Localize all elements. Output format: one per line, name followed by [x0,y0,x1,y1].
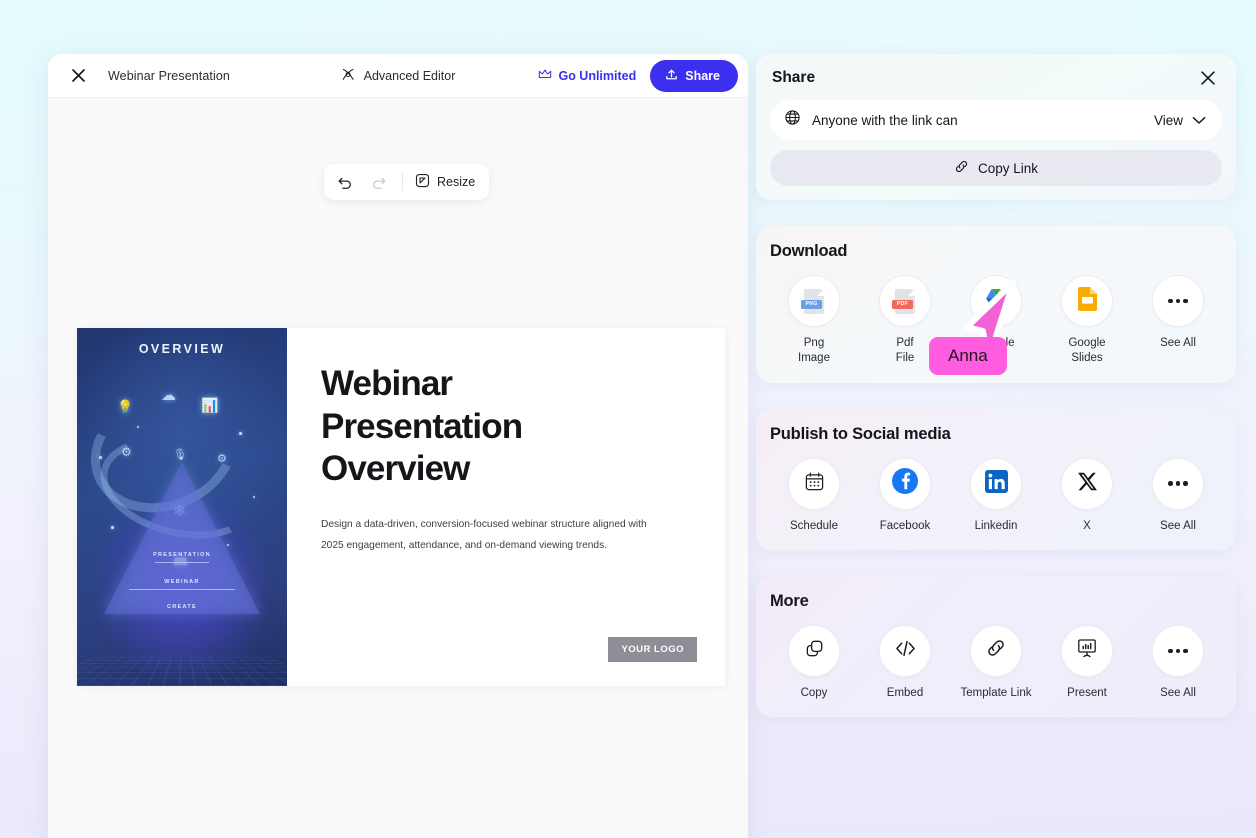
slide-art-title: OVERVIEW [77,342,287,356]
advanced-editor-button[interactable]: Advanced Editor [341,67,456,85]
png-file-icon: PNG [804,289,824,314]
tile-circle [788,458,840,510]
tile-circle [1061,458,1113,510]
tile-label: Google Slides [1068,336,1105,367]
ellipsis-icon [1168,649,1188,654]
link-access-row[interactable]: Anyone with the link can View [770,100,1222,140]
pyramid-tier-label-3: CREATE [77,604,287,610]
tile-label: Png Image [798,336,830,367]
share-header-row: Share [770,66,1222,100]
calendar-icon [804,471,825,497]
go-unlimited-button[interactable]: Go Unlimited [538,68,636,83]
tile-label: Linkedin [975,519,1018,534]
gear-icon-left: ⚙ [121,446,132,458]
canvas-toolbar: Resize [324,164,489,200]
share-button[interactable]: Share [650,60,738,92]
tile-label: See All [1160,686,1196,701]
download-section: Download PNG Png Image PDF Pdf File [756,226,1236,383]
more-section: More Copy [756,576,1236,717]
tile-linkedin[interactable]: Linkedin [958,458,1034,534]
upload-icon [665,68,678,84]
presentation-board-icon [1076,637,1098,664]
tile-circle [970,275,1022,327]
tile-circle [970,458,1022,510]
cloud-upload-icon: ☁ [161,388,176,403]
resize-button[interactable]: Resize [409,165,485,199]
pdf-file-icon: PDF [895,289,915,314]
tile-circle [1061,275,1113,327]
permission-selector[interactable]: View [1154,113,1206,128]
social-tiles: Schedule Facebook [770,458,1222,534]
tile-label: Google [977,336,1014,351]
tile-facebook[interactable]: Facebook [867,458,943,534]
more-section-title: More [770,592,1222,611]
slide-card[interactable]: OVERVIEW 💡 ☁ 📊 ⚙ ⚙ 🎙 🕸 📖 [77,328,725,686]
art-sparkle [239,432,242,435]
pyramid-tier-label-1: PRESENTATION [77,552,287,558]
download-section-title: Download [770,242,1222,261]
tile-present[interactable]: Present [1049,625,1125,701]
editor-canvas: Resize OVERVIEW 💡 ☁ 📊 ⚙ ⚙ 🎙 🕸 📖 [48,98,748,838]
pyramid-tier-label-2: WEBINAR [77,579,287,585]
tile-label: Present [1067,686,1107,701]
editor-top-bar: Webinar Presentation Advanced Editor Go … [48,54,748,98]
download-tiles: PNG Png Image PDF Pdf File [770,275,1222,367]
close-icon[interactable] [66,64,90,88]
close-icon[interactable] [1196,66,1220,90]
logo-placeholder-badge[interactable]: YOUR LOGO [608,637,697,662]
tile-label: See All [1160,519,1196,534]
tile-social-see-all[interactable]: See All [1140,458,1216,534]
tile-circle [788,625,840,677]
lightbulb-icon: 💡 [117,400,133,413]
copy-link-button[interactable]: Copy Link [770,150,1222,186]
magic-wand-icon [341,67,356,85]
facebook-icon [891,467,919,500]
more-tiles: Copy Embed [770,625,1222,701]
top-bar-actions: Go Unlimited Share [538,60,738,92]
art-grid-floor [77,654,287,686]
tile-download-see-all[interactable]: See All [1140,275,1216,367]
ellipsis-icon [1168,299,1188,304]
permission-value: View [1154,113,1183,128]
tile-google-drive[interactable]: Google [958,275,1034,367]
slide-artwork: OVERVIEW 💡 ☁ 📊 ⚙ ⚙ 🎙 🕸 📖 [77,328,287,686]
google-drive-icon [984,288,1008,314]
art-sparkle [99,456,102,459]
tile-circle [1152,275,1204,327]
tile-copy[interactable]: Copy [776,625,852,701]
tile-x-twitter[interactable]: X [1049,458,1125,534]
resize-icon [415,173,430,191]
slide-subtitle[interactable]: Design a data-driven, conversion-focused… [321,515,669,557]
tile-label: Facebook [880,519,931,534]
advanced-editor-label: Advanced Editor [364,69,456,83]
toolbar-divider [402,173,403,191]
crown-icon [538,68,552,83]
tile-embed[interactable]: Embed [867,625,943,701]
editor-window: Webinar Presentation Advanced Editor Go … [48,54,748,838]
link-access-label: Anyone with the link can [812,113,958,128]
slide-headline[interactable]: Webinar Presentation Overview [321,363,651,491]
undo-button[interactable] [328,165,362,199]
tile-label: Schedule [790,519,838,534]
pyramid-shape [104,462,260,614]
tile-label: Pdf File [896,336,915,367]
tile-label: X [1083,519,1091,534]
google-slides-icon [1078,287,1097,316]
go-unlimited-label: Go Unlimited [558,69,636,83]
slide-text-area: Webinar Presentation Overview Design a d… [287,328,725,686]
pyramid-divider-2 [129,589,235,590]
tile-more-see-all[interactable]: See All [1140,625,1216,701]
x-twitter-icon [1077,471,1098,497]
pyramid-divider-1 [155,562,209,563]
tile-circle [1152,458,1204,510]
link-icon [954,159,969,177]
tile-circle [1152,625,1204,677]
globe-icon [784,109,801,131]
tile-circle: PNG [788,275,840,327]
tile-pdf-file[interactable]: PDF Pdf File [867,275,943,367]
linkedin-icon [985,470,1008,498]
tile-label: Copy [801,686,828,701]
ellipsis-icon [1168,481,1188,486]
code-icon [894,638,917,664]
copy-icon [804,638,825,664]
art-sparkle [137,426,139,428]
tile-png-image[interactable]: PNG Png Image [776,275,852,367]
redo-button[interactable] [362,165,396,199]
document-title[interactable]: Webinar Presentation [108,69,230,83]
tile-circle: PDF [879,275,931,327]
social-section-title: Publish to Social media [770,425,1222,444]
copy-link-label: Copy Link [978,161,1038,176]
tile-circle [1061,625,1113,677]
resize-label: Resize [437,175,475,189]
bar-chart-icon: 📊 [201,398,218,412]
tile-label: Template Link [961,686,1032,701]
tile-label: Embed [887,686,923,701]
share-panel-title: Share [772,69,815,87]
tile-google-slides[interactable]: Google Slides [1049,275,1125,367]
tile-circle [970,625,1022,677]
link-icon [985,637,1007,664]
share-header-card: Share Anyone with the link can View [756,54,1236,200]
chevron-down-icon [1192,113,1206,128]
tile-circle [879,625,931,677]
tile-label: See All [1160,336,1196,351]
tile-schedule[interactable]: Schedule [776,458,852,534]
share-button-label: Share [685,69,720,83]
share-panel: Share Anyone with the link can View [756,54,1236,838]
social-section: Publish to Social media [756,409,1236,550]
podium-icon: 🎙 [173,450,187,461]
tile-circle [879,458,931,510]
tile-template-link[interactable]: Template Link [958,625,1034,701]
